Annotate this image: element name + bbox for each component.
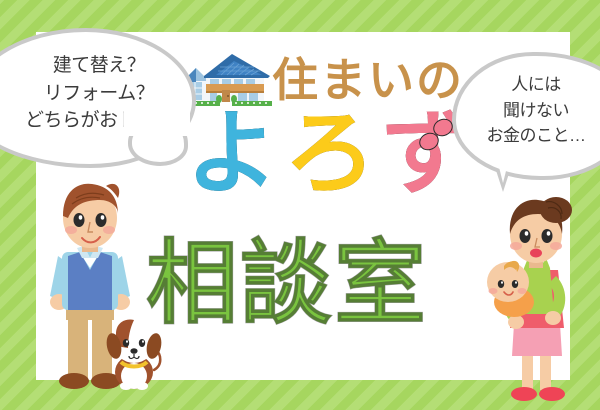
speech-bubble-right-text: 人には 聞けない お金のこと…	[466, 72, 600, 149]
bubble-right-line-1: 人には	[466, 72, 600, 98]
speech-bubble-right-tail-fill	[496, 155, 510, 183]
bubble-right-line-2: 聞けない	[466, 98, 600, 124]
title-char-ro: ろ	[284, 100, 382, 207]
woman-with-baby-illustration	[482, 196, 588, 408]
bubble-left-line-1: 建て替え？	[4, 52, 194, 80]
title-line-soudanshitsu: 相談室	[146, 238, 428, 330]
bubble-right-line-3: お金のこと…	[466, 123, 600, 149]
speech-bubble-left-seam	[124, 110, 190, 136]
title-char-yo: よ	[186, 100, 284, 207]
poster-canvas: 建て替え？ リフォーム？ どちらがおトク？ 人には 聞けない お金のこと… 住ま…	[0, 0, 600, 410]
bubble-left-line-2: リフォーム？	[4, 80, 194, 108]
